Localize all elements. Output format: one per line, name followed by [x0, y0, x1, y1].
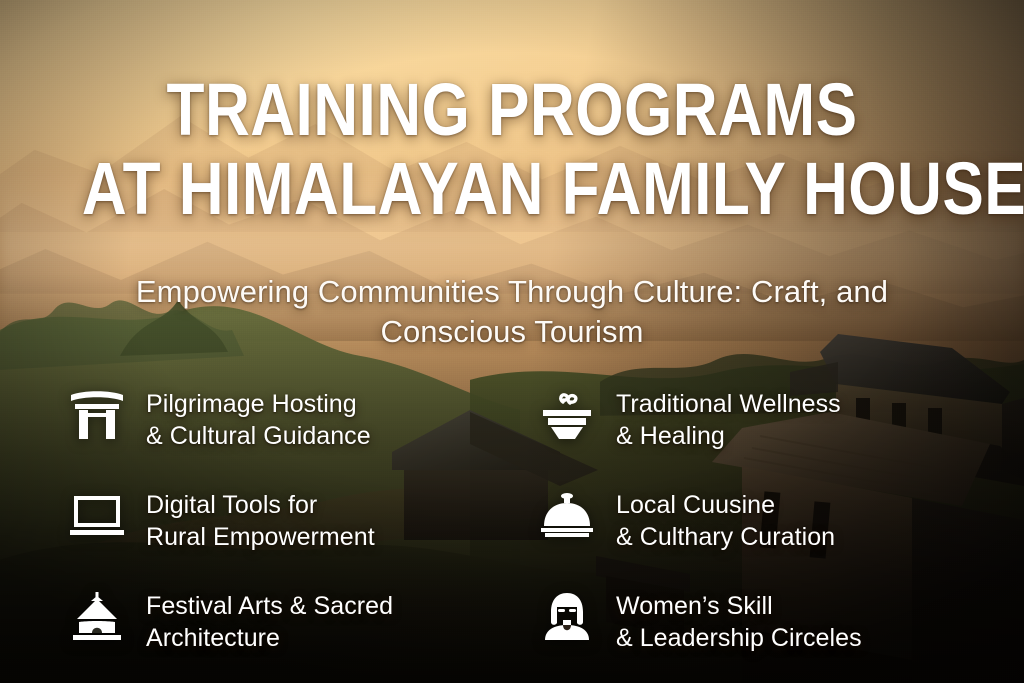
stupa-temple-icon	[66, 588, 128, 646]
feature-label-pilgrimage-hosting: Pilgrimage Hosting & Cultural Guidance	[146, 386, 371, 452]
food-cloche-icon	[536, 487, 598, 545]
feature-line-2: Architecture	[146, 622, 393, 654]
feature-label-local-cuisine: Local Cuusine & Culthary Curation	[616, 487, 835, 553]
title-block: TRAINING PROGRAMS AT HIMALAYAN FAMILY HO…	[0, 74, 1024, 224]
feature-item-traditional-wellness: Traditional Wellness & Healing	[536, 386, 968, 487]
feature-label-festival-arts: Festival Arts & Sacred Architecture	[146, 588, 393, 654]
steaming-bowl-icon	[536, 386, 598, 444]
poster-content: TRAINING PROGRAMS AT HIMALAYAN FAMILY HO…	[0, 0, 1024, 683]
torii-gate-icon	[66, 386, 128, 444]
feature-item-local-cuisine: Local Cuusine & Culthary Curation	[536, 487, 968, 588]
poster-title-line-2: AT HIMALAYAN FAMILY HOUSE	[82, 153, 942, 224]
feature-line-1: Digital Tools for	[146, 491, 317, 519]
feature-line-1: Pilgrimage Hosting	[146, 390, 357, 418]
feature-list: Pilgrimage Hosting & Cultural Guidance	[66, 386, 968, 683]
poster-title-line-1: TRAINING PROGRAMS	[82, 74, 942, 145]
laptop-icon	[66, 487, 128, 545]
feature-line-2: & Cultural Guidance	[146, 420, 371, 452]
feature-item-pilgrimage-hosting: Pilgrimage Hosting & Cultural Guidance	[66, 386, 536, 487]
feature-label-digital-tools: Digital Tools for Rural Empowerment	[146, 487, 375, 553]
feature-item-digital-tools: Digital Tools for Rural Empowerment	[66, 487, 536, 588]
feature-line-1: Festival Arts & Sacred	[146, 592, 393, 620]
feature-item-womens-skill: Women’s Skill & Leadership Circeles	[536, 588, 968, 683]
feature-line-1: Traditional Wellness	[616, 390, 841, 418]
feature-line-1: Women’s Skill	[616, 592, 773, 620]
poster-subtitle: Empowering Communities Through Culture: …	[72, 272, 952, 351]
feature-line-1: Local Cuusine	[616, 491, 775, 519]
training-programs-poster: TRAINING PROGRAMS AT HIMALAYAN FAMILY HO…	[0, 0, 1024, 683]
feature-line-2: & Culthary Curation	[616, 521, 835, 553]
feature-line-2: & Leadership Circeles	[616, 622, 862, 654]
feature-line-2: & Healing	[616, 420, 841, 452]
poster-subtitle-line-1: Empowering Communities Through Culture: …	[72, 272, 952, 312]
woman-avatar-icon	[536, 588, 598, 646]
feature-label-womens-skill: Women’s Skill & Leadership Circeles	[616, 588, 862, 654]
feature-label-traditional-wellness: Traditional Wellness & Healing	[616, 386, 841, 452]
feature-item-festival-arts: Festival Arts & Sacred Architecture	[66, 588, 536, 683]
poster-subtitle-line-2: Conscious Tourism	[72, 312, 952, 352]
feature-line-2: Rural Empowerment	[146, 521, 375, 553]
